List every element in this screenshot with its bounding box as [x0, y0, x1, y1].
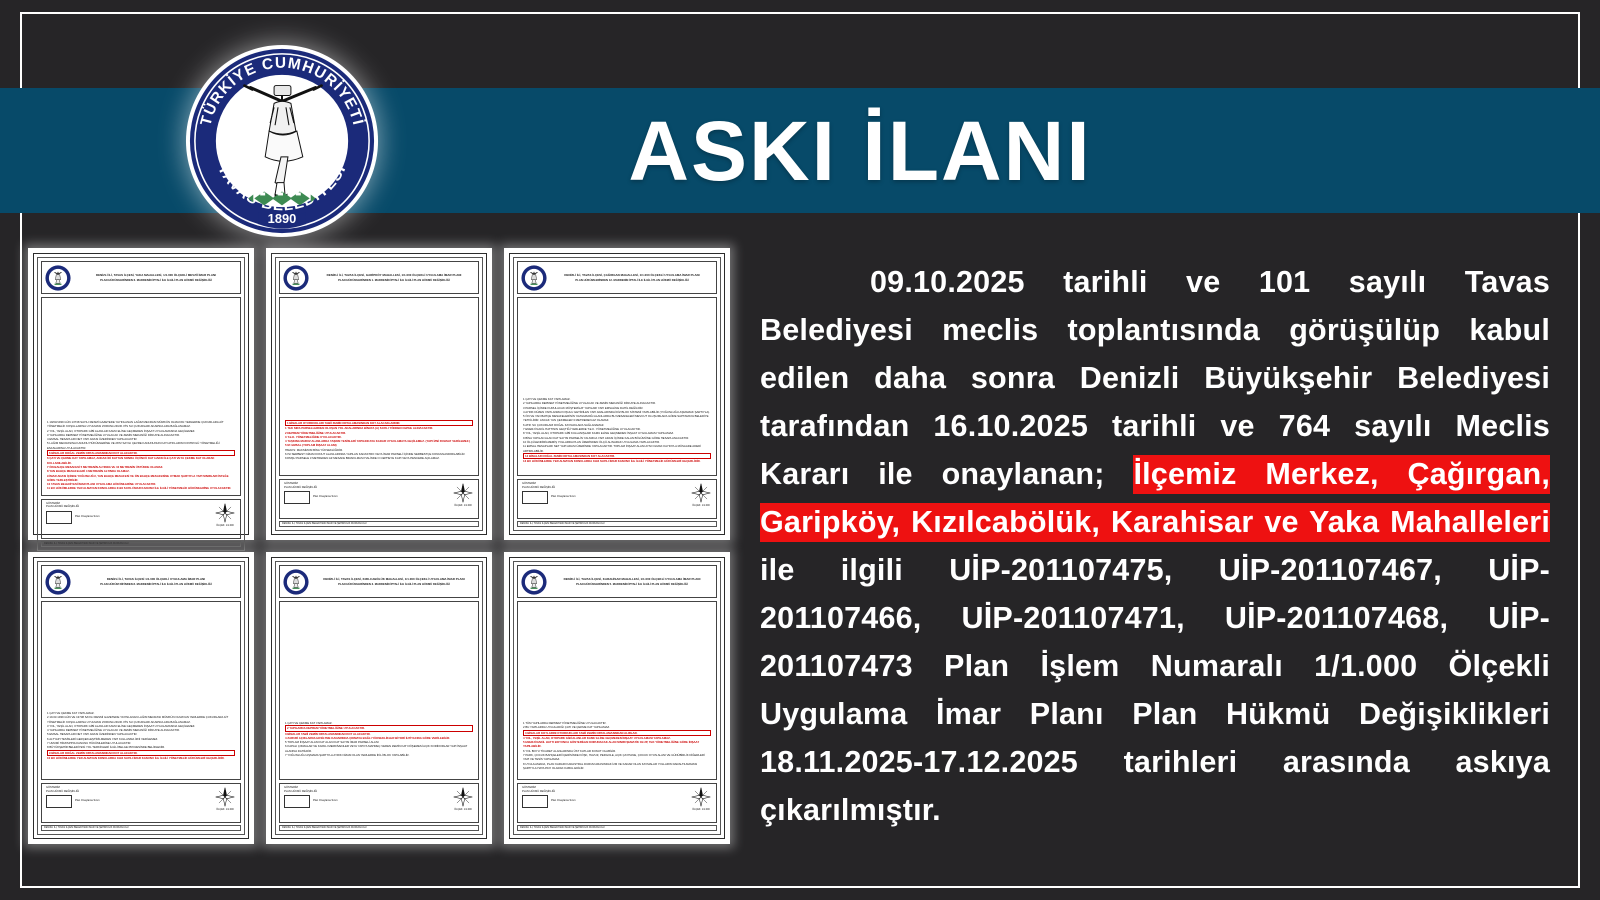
plan-clause: 5 LAĞIM MECRASINA KANUNU HÜKÜMLERİNE VE … [47, 441, 235, 450]
plan-sheet: DENİZLİ İLİ, TAVAS İLÇESİ, YAKA MAHALLES… [33, 253, 249, 535]
legend-swatch [284, 795, 310, 808]
plan-clause: 9 İMAR ADASI İÇİNDE YOĞUNLUĞU, YAN BAHÇE… [47, 474, 235, 483]
plan-sheet-footer: GÖSTERİM PLAN HÜKMÜ DEĞİŞİKLİĞİ Plan Ona… [41, 499, 241, 539]
legend-subtitle: PLAN HÜKMÜ DEĞİŞİKLİĞİ [46, 790, 100, 794]
plan-legend: GÖSTERİM PLAN HÜKMÜ DEĞİŞİKLİĞİ Plan Ona… [46, 786, 100, 808]
plan-header-line-1: DENİZLİ İLİ, TAVAS İLÇESİ, YAKA MAHALLES… [75, 273, 237, 278]
plan-clause: 6 ÇATI VE ÇEKME KAT YAPILAMAZ, ANCAK İKİ… [47, 456, 235, 465]
plan-sheet-inner: DENİZLİ İLİ, TAVAS İLÇESİ 1/1.000 ÖLÇEKL… [37, 561, 245, 835]
plan-sheet-header: DENİZLİ İLİ, TAVAS İLÇESİ, YAKA MAHALLES… [41, 261, 241, 294]
plan-scale-label: ÖLÇEK: 1/1.000 [452, 504, 474, 508]
plan-header-line-1: DENİZLİ İLİ, TAVAS İLÇESİ, KARAHİSAR MAH… [551, 577, 713, 582]
plan-sheet-header: DENİZLİ İLİ, TAVAS İLÇESİ, ÇAĞIRGAN MAHA… [517, 261, 717, 294]
plan-scale-label: ÖLÇEK: 1/1.000 [690, 808, 712, 812]
plan-clause: 11 BU HÜKÜMLERDE YER ALMAYAN KONULARDA 3… [47, 486, 235, 490]
legend-label: Plan Onaylama Sınırı [551, 799, 576, 803]
plan-sheet-inner: DENİZLİ İLİ, TAVAS İLÇESİ, KARAHİSAR MAH… [513, 561, 721, 835]
plan-legend: GÖSTERİM PLAN HÜKMÜ DEĞİŞİKLİĞİ Plan Ona… [522, 786, 576, 808]
plan-clause: 5 ÖN VE YAN BAHÇE MESAFELERİNİN YAZILMAD… [523, 414, 711, 423]
plan-clause-list: 1 ÇATI VE ÇEKME KAT YAPILAMAZ.2 YAPILARD… [285, 721, 473, 757]
plan-clause: 10 BU HÜKÜMLERDE YER ALMAYAN KONULARDA 3… [47, 756, 235, 760]
legend-subtitle: PLAN HÜKMÜ DEĞİŞİKLİĞİ [46, 505, 100, 509]
plan-thumbnail[interactable]: DENİZLİ İLİ, TAVAS İLÇESİ, ÇAĞIRGAN MAHA… [504, 248, 730, 540]
legend-swatch [284, 491, 310, 504]
compass-rose-icon: ÖLÇEK: 1/1.000 [690, 482, 712, 508]
plan-clause: 8 UYGULAMADA, PLAN KARARI KADASTRAL DURU… [523, 762, 711, 771]
plan-clause-list: 1 19/03/1939 GÜN 13738 SAYILI RESMİ GAZE… [47, 420, 235, 491]
plan-body-spacer [285, 302, 473, 420]
plan-clause: 2 19.03.1939 GÜN VE 13738 SAYILI RESMİ G… [47, 715, 235, 724]
plan-thumbnails-grid: DENİZLİ İLİ, TAVAS İLÇESİ, YAKA MAHALLES… [28, 248, 742, 852]
plan-clause: 5 ENERJİ NAKİL HATTI BOYUNCA GÖSTERİLEN … [523, 740, 711, 749]
plan-scale-label: ÖLÇEK: 1/1.000 [214, 524, 236, 528]
plan-clause-list: 1 TÜM YAPILARDA DEPREM YÖNETMELİĞİNE UYU… [523, 721, 711, 770]
plan-header-line-1: DENİZLİ İLİ, TAVAS İLÇESİ, ÇAĞIRGAN MAHA… [551, 273, 713, 278]
plan-header-line-2: PLAN HÜKÜMLERİNDEN 1. MADDENİN İPTALİ İL… [313, 278, 475, 283]
plan-sheet-body: 1 BİNALAR OTURDUKLARI TABİİ ZEMİN ORTALA… [279, 297, 479, 476]
plan-legend: GÖSTERİM PLAN HÜKMÜ DEĞİŞİKLİĞİ Plan Ona… [284, 786, 338, 808]
legend-label: Plan Onaylama Sınırı [313, 495, 338, 499]
plan-body-spacer [285, 606, 473, 721]
legend-swatch [46, 795, 72, 808]
seal-icon [521, 569, 547, 595]
plan-sheet-inner: DENİZLİ İLİ, TAVAS İLÇESİ, KIZILCABÖLÜK … [275, 561, 483, 835]
plan-sheet: DENİZLİ İLİ, TAVAS İLÇESİ, ÇAĞIRGAN MAHA… [509, 253, 725, 535]
plan-sheet-inner: DENİZLİ İLİ, TAVAS İLÇESİ, GARİPKÖY MAHA… [275, 257, 483, 531]
plan-sheet-body: 1 TÜM YAPILARDA DEPREM YÖNETMELİĞİNE UYU… [517, 601, 717, 780]
plan-sheet-footer: GÖSTERİM PLAN HÜKMÜ DEĞİŞİKLİĞİ Plan Ona… [517, 783, 717, 823]
plan-clause-list: 1 ÇATI VE ÇEKME KAT YAPILAMAZ.2 YAPILARD… [523, 397, 711, 463]
seal-icon [45, 265, 71, 291]
plan-footer-note: DENİZLİ İLİ, TAVAS İLÇESİ BELEDİYESİ İMA… [279, 521, 479, 527]
plan-sheet-body: 1 ÇATI VE ÇEKME KAT YAPILAMAZ.2 YAPILARD… [279, 601, 479, 780]
legend-swatch [522, 795, 548, 808]
plan-clause: 1 19/03/1939 GÜN 13738 SAYILI RESMİ GAZE… [47, 420, 235, 429]
announcement-text-block: 09.10.2025 tarihli ve 101 sayılı Tavas B… [760, 258, 1550, 834]
plan-sheet-body: 1 ÇATI VE ÇEKME KAT YAPILAMAZ.2 YAPILARD… [517, 297, 717, 476]
plan-clause: 7 PARK, ÇOCUK BAHÇELERİ İÇERİSİNDE KÖŞK,… [523, 753, 711, 762]
plan-legend: GÖSTERİM PLAN HÜKMÜ DEĞİŞİKLİĞİ Plan Ona… [522, 482, 576, 504]
legend-swatch [46, 511, 72, 524]
plan-sheet: DENİZLİ İLİ, TAVAS İLÇESİ, KARAHİSAR MAH… [509, 557, 725, 839]
plan-header-line-2: PLAN HÜKÜM DİFİNDEN 8. MADDENİN İPTALİ İ… [75, 582, 237, 587]
plan-sheet-footer: GÖSTERİM PLAN HÜKMÜ DEĞİŞİKLİĞİ Plan Ona… [279, 479, 479, 519]
seal-icon [521, 265, 547, 291]
plan-sheet-footer: GÖSTERİM PLAN HÜKMÜ DEĞİŞİKLİĞİ Plan Ona… [517, 479, 717, 519]
plan-body-spacer [523, 302, 711, 397]
plan-body-spacer [523, 606, 711, 721]
plan-sheet-body: 1 19/03/1939 GÜN 13738 SAYILI RESMİ GAZE… [41, 297, 241, 496]
compass-rose-icon: ÖLÇEK: 1/1.000 [452, 786, 474, 812]
legend-label: Plan Onaylama Sınırı [75, 799, 100, 803]
plan-footer-note: DENİZLİ İLİ, TAVAS İLÇESİ BELEDİYESİ İMA… [517, 825, 717, 831]
plan-legend: GÖSTERİM PLAN HÜKMÜ DEĞİŞİKLİĞİ Plan Ona… [46, 502, 100, 524]
plan-body-spacer [47, 606, 235, 711]
legend-label: Plan Onaylama Sınırı [75, 515, 100, 519]
legend-subtitle: PLAN HÜKMÜ DEĞİŞİKLİĞİ [284, 486, 338, 490]
legend-subtitle: PLAN HÜKMÜ DEĞİŞİKLİĞİ [284, 790, 338, 794]
plan-footer-note: DENİZLİ İLİ, TAVAS İLÇESİ BELEDİYESİ İMA… [279, 825, 479, 831]
plan-sheet-inner: DENİZLİ İLİ, TAVAS İLÇESİ, ÇAĞIRGAN MAHA… [513, 257, 721, 531]
plan-scale-label: ÖLÇEK: 1/1.000 [690, 504, 712, 508]
plan-sheet-inner: DENİZLİ İLİ, TAVAS İLÇESİ, YAKA MAHALLES… [37, 257, 245, 551]
plan-thumbnail[interactable]: DENİZLİ İLİ, TAVAS İLÇESİ, KARAHİSAR MAH… [504, 552, 730, 844]
plan-clause: 7 YOĞUNLUĞU AŞMAMA ŞARTIYLA AYRIK NİZAM … [285, 753, 473, 757]
plan-footer-note: DENİZLİ İLİ, TAVAS İLÇESİ BELEDİYESİ İMA… [41, 541, 241, 547]
legend-swatch [522, 491, 548, 504]
legend-subtitle: PLAN HÜKMÜ DEĞİŞİKLİĞİ [522, 486, 576, 490]
plan-thumbnail[interactable]: DENİZLİ İLİ, TAVAS İLÇESİ, KIZILCABÖLÜK … [266, 552, 492, 844]
plan-header-line-1: DENİZLİ İLİ, TAVAS İLÇESİ, KIZILCABÖLÜK … [313, 577, 475, 582]
logo-year: 1890 [268, 211, 297, 226]
legend-label: Plan Onaylama Sınırı [313, 799, 338, 803]
plan-clause-list: 1 ÇATI VE ÇEKME KAT YAPILAMAZ.2 19.03.19… [47, 711, 235, 760]
legend-label: Plan Onaylama Sınırı [551, 495, 576, 499]
plan-header-line-2: PLAN HÜKÜMLERİNDEN 3. MADDENİN İPTALİ İL… [313, 582, 475, 587]
plan-sheet: DENİZLİ İLİ, TAVAS İLÇESİ 1/1.000 ÖLÇEKL… [33, 557, 249, 839]
plan-sheet-header: DENİZLİ İLİ, TAVAS İLÇESİ 1/1.000 ÖLÇEKL… [41, 565, 241, 598]
plan-header-line-1: DENİZLİ İLİ, TAVAS İLÇESİ, GARİPKÖY MAHA… [313, 273, 475, 278]
compass-rose-icon: ÖLÇEK: 1/1.000 [214, 502, 236, 528]
seal-icon [283, 569, 309, 595]
seal-icon [283, 265, 309, 291]
plan-clause: 6 ISI SERBEST NİZAM KONUT ALANLARINDA YA… [285, 452, 473, 461]
plan-sheet: DENİZLİ İLİ, TAVAS İLÇESİ, KIZILCABÖLÜK … [271, 557, 487, 839]
compass-rose-icon: ÖLÇEK: 1/1.000 [690, 786, 712, 812]
plan-clause-list: 1 BİNALAR OTURDUKLARI TABİİ ZEMİN ORTALA… [285, 420, 473, 461]
plan-sheet-header: DENİZLİ İLİ, TAVAS İLÇESİ, KIZILCABÖLÜK … [279, 565, 479, 598]
seal-icon [45, 569, 71, 595]
plan-scale-label: ÖLÇEK: 1/1.000 [452, 808, 474, 812]
plan-legend: GÖSTERİM PLAN HÜKMÜ DEĞİŞİKLİĞİ Plan Ona… [284, 482, 338, 504]
plan-sheet-footer: GÖSTERİM PLAN HÜKMÜ DEĞİŞİKLİĞİ Plan Ona… [41, 783, 241, 823]
plan-body-spacer [47, 302, 235, 420]
plan-sheet-body: 1 ÇATI VE ÇEKME KAT YAPILAMAZ.2 19.03.19… [41, 601, 241, 780]
plan-sheet-footer: GÖSTERİM PLAN HÜKMÜ DEĞİŞİKLİĞİ Plan Ona… [279, 783, 479, 823]
plan-clause: 11 EMSAL HESAPLARI NET YAPI ADASI ÜZERİN… [523, 444, 711, 453]
plan-sheet-header: DENİZLİ İLİ, TAVAS İLÇESİ, KARAHİSAR MAH… [517, 565, 717, 598]
plan-clause: 13 BU HÜKÜMLERDE YER ALMAYAN KONULARDA 3… [523, 459, 711, 463]
plan-clause: 6 KAPALI ÇIKMALAR VE KAPALI MERDİVENLER … [285, 744, 473, 753]
compass-rose-icon: ÖLÇEK: 1/1.000 [214, 786, 236, 812]
plan-footer-note: DENİZLİ İLİ, TAVAS İLÇESİ BELEDİYESİ İMA… [41, 825, 241, 831]
plan-thumbnail[interactable]: DENİZLİ İLİ, TAVAS İLÇESİ 1/1.000 ÖLÇEKL… [28, 552, 254, 844]
plan-footer-note: DENİZLİ İLİ, TAVAS İLÇESİ BELEDİYESİ İMA… [517, 521, 717, 527]
plan-thumbnail[interactable]: DENİZLİ İLİ, TAVAS İLÇESİ, GARİPKÖY MAHA… [266, 248, 492, 540]
municipality-logo: TÜRKİYE CUMHURİYETİ TAVAS BELEDİYESİ [183, 42, 381, 240]
plan-sheet: DENİZLİ İLİ, TAVAS İLÇESİ, GARİPKÖY MAHA… [271, 253, 487, 535]
plan-header-line-2: PLAN HÜKÜMLERİNDEN 6. MADDENİN İPTALİ İL… [75, 278, 237, 283]
compass-rose-icon: ÖLÇEK: 1/1.000 [452, 482, 474, 508]
plan-header-line-2: PLAN HÜKÜMLERİNDEN 5. MADDENİN İPTALİ İL… [551, 582, 713, 587]
plan-scale-label: ÖLÇEK: 1/1.000 [214, 808, 236, 812]
announcement-paragraph: 09.10.2025 tarihli ve 101 sayılı Tavas B… [760, 258, 1550, 834]
plan-sheet-header: DENİZLİ İLİ, TAVAS İLÇESİ, GARİPKÖY MAHA… [279, 261, 479, 294]
announcement-part2: ile ilgili UİP-201107475, UİP-201107467,… [760, 553, 1550, 827]
plan-thumbnail[interactable]: DENİZLİ İLİ, TAVAS İLÇESİ, YAKA MAHALLES… [28, 248, 254, 540]
legend-subtitle: PLAN HÜKMÜ DEĞİŞİKLİĞİ [522, 790, 576, 794]
plan-header-line-2: PLAN HÜKÜMLERİNDEN 12. MADDENİN İPTALİ İ… [551, 278, 713, 283]
